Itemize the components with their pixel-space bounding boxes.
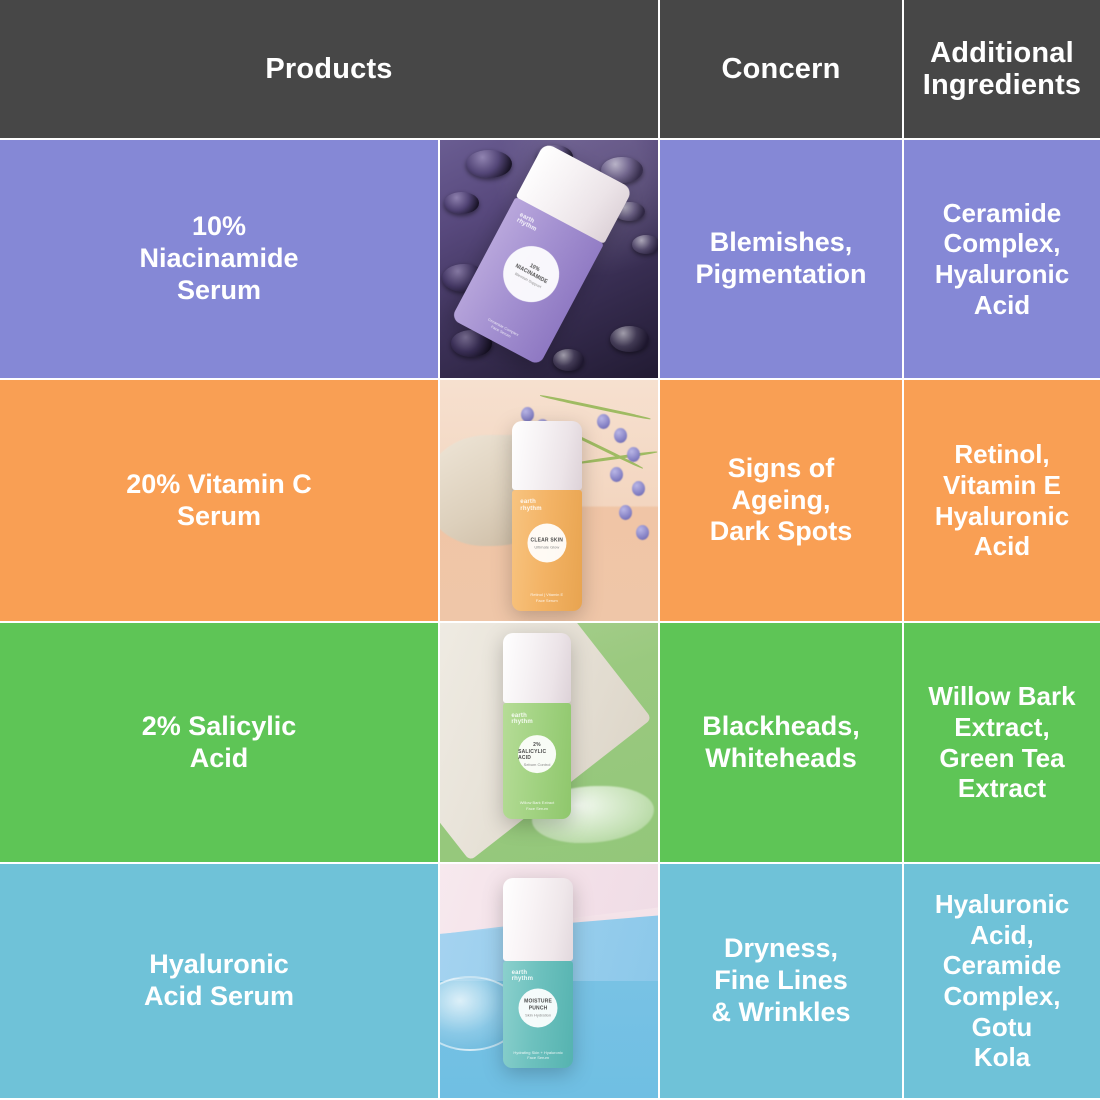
serum-bottle-salicylic-acid: earthrhythm 2% SALICYLIC ACID Sebum Cont… [503,633,571,819]
table-cell-ingredients: Retinol, Vitamin E Hyaluronic Acid [904,380,1100,621]
column-header-concern: Concern [660,0,902,138]
product-comparison-table: Products Concern Additional Ingredients … [0,0,1100,1100]
water-droplet-icon [466,150,512,179]
lavender-bud [610,467,623,482]
bottle-body: earthrhythm CLEAR SKIN Ultimate Glow Ret… [512,490,582,612]
bottle-footer-text: Hydrating Skin + HyaluronicFace Serum [510,1050,566,1060]
table-cell-concern: Signs of Ageing, Dark Spots [660,380,902,621]
table-cell-ingredients: Hyaluronic Acid, Ceramide Complex, Gotu … [904,864,1100,1098]
table-row: 10% Niacinamide Serum [0,140,438,378]
flower-stem [575,450,657,464]
product-image-niacinamide: earthrhythm 10% NIACINAMIDE Blemish Supp… [440,140,658,378]
table-cell-ingredients: Willow Bark Extract, Green Tea Extract [904,623,1100,862]
column-header-products: Products [0,0,658,138]
lavender-bud [614,428,627,443]
table-row: 20% Vitamin C Serum [0,380,438,621]
brand-logo: earthrhythm [520,499,542,512]
table-row: 2% Salicylic Acid [0,623,438,862]
product-image-salicylic-acid: earthrhythm 2% SALICYLIC ACID Sebum Cont… [440,623,658,862]
bottle-label-badge: MOISTURE PUNCH Skin Hydration [519,989,558,1028]
bottle-label-badge: 10% NIACINAMIDE Blemish Support [494,236,570,312]
bottle-cap [512,421,582,490]
lavender-bud [521,407,534,422]
table-row: Hyaluronic Acid Serum [0,864,438,1098]
lavender-bud [632,481,645,496]
water-droplet-icon [610,326,649,352]
lavender-bud [636,525,649,540]
bottle-cap [503,633,571,704]
product-image-vitamin-c: earthrhythm CLEAR SKIN Ultimate Glow Ret… [440,380,658,621]
bottle-label-badge: 2% SALICYLIC ACID Sebum Control [518,735,556,773]
lavender-bud [627,447,640,462]
lavender-bud [619,505,632,520]
water-droplet-icon [632,235,658,254]
brand-logo: earthrhythm [512,970,534,983]
bottle-footer-text: Willow Bark ExtractFace Serum [510,800,564,810]
bottle-body: earthrhythm 2% SALICYLIC ACID Sebum Cont… [503,703,571,819]
water-droplet-icon [444,192,479,213]
bottle-cap [503,878,573,961]
bottle-label-badge: CLEAR SKIN Ultimate Glow [527,524,566,563]
table-cell-concern: Blemishes, Pigmentation [660,140,902,378]
bottle-footer-text: Retinol | Vitamin EFace Serum [519,592,575,602]
column-header-additional-ingredients: Additional Ingredients [904,0,1100,138]
brand-logo: earthrhythm [511,713,533,726]
serum-bottle-hyaluronic-acid: earthrhythm MOISTURE PUNCH Skin Hydratio… [503,878,573,1068]
water-droplet-icon [553,349,584,370]
bottle-body: earthrhythm MOISTURE PUNCH Skin Hydratio… [503,961,573,1067]
table-cell-concern: Blackheads, Whiteheads [660,623,902,862]
lavender-bud [597,414,610,429]
serum-bottle-vitamin-c: earthrhythm CLEAR SKIN Ultimate Glow Ret… [512,421,582,611]
table-cell-concern: Dryness, Fine Lines & Wrinkles [660,864,902,1098]
table-cell-ingredients: Ceramide Complex, Hyaluronic Acid [904,140,1100,378]
flower-stem [540,394,652,421]
product-image-hyaluronic-acid: earthrhythm MOISTURE PUNCH Skin Hydratio… [440,864,658,1098]
brand-logo: earthrhythm [516,213,541,234]
